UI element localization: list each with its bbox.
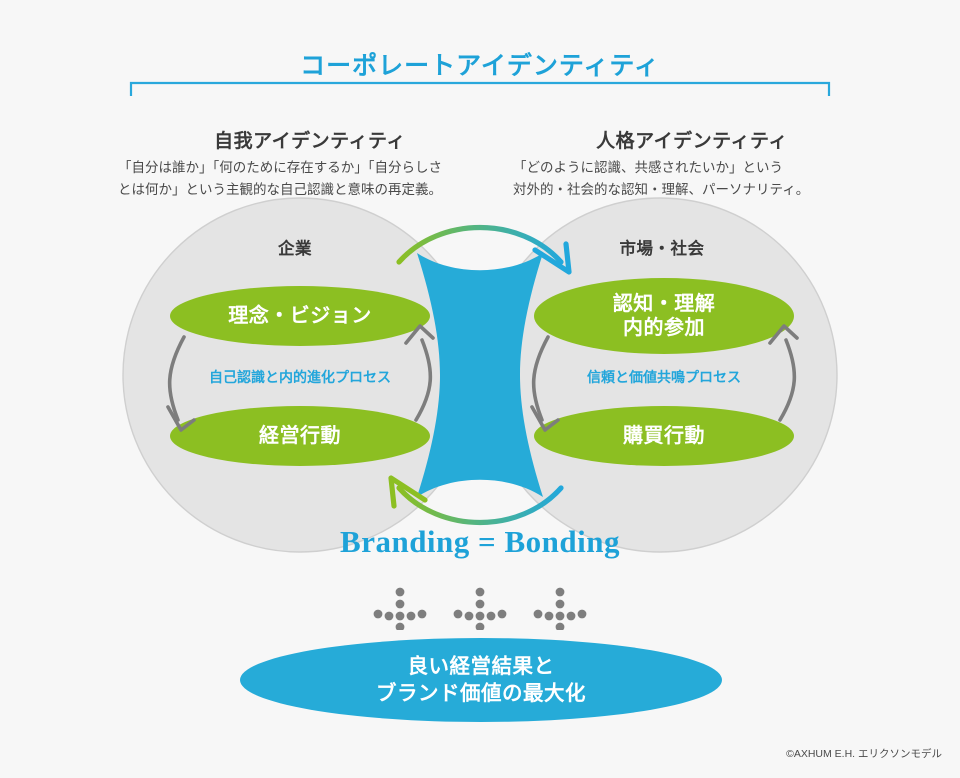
pill-line: 認知・理解 (613, 292, 716, 316)
result-ellipse: 良い経営結果と ブランド価値の最大化 (240, 638, 722, 722)
dotted-flow-arrows (0, 584, 960, 630)
pill-label-purchase-action: 購買行動 (534, 406, 794, 466)
result-line: ブランド価値の最大化 (376, 680, 586, 707)
circle-label-market: 市場・社会 (562, 235, 762, 259)
pill-label-vision: 理念・ビジョン (170, 286, 430, 346)
diagram-canvas: コーポレートアイデンティティ 自我アイデンティティ 「自分は誰か」「何のために存… (0, 0, 960, 778)
process-label-left: 自己認識と内的進化プロセス (160, 367, 440, 387)
pill-label-management-action: 経営行動 (170, 406, 430, 466)
pill-line: 内的参加 (623, 316, 705, 340)
circle-label-company: 企業 (195, 235, 395, 259)
pill-line: 経営行動 (259, 424, 341, 448)
process-label-right: 信頼と価値共鳴プロセス (524, 367, 804, 387)
dotted-down-arrow (374, 588, 427, 630)
pill-line: 購買行動 (623, 424, 705, 448)
copyright-notice: ©AXHUM E.H. エリクソンモデル (786, 746, 942, 761)
result-line: 良い経営結果と (408, 653, 555, 680)
dotted-down-arrow (454, 588, 507, 630)
bonding-caption: Branding = Bonding (0, 524, 960, 560)
dotted-down-arrow (534, 588, 587, 630)
pill-label-awareness-participation: 認知・理解 内的参加 (534, 278, 794, 354)
pill-line: 理念・ビジョン (228, 304, 372, 328)
